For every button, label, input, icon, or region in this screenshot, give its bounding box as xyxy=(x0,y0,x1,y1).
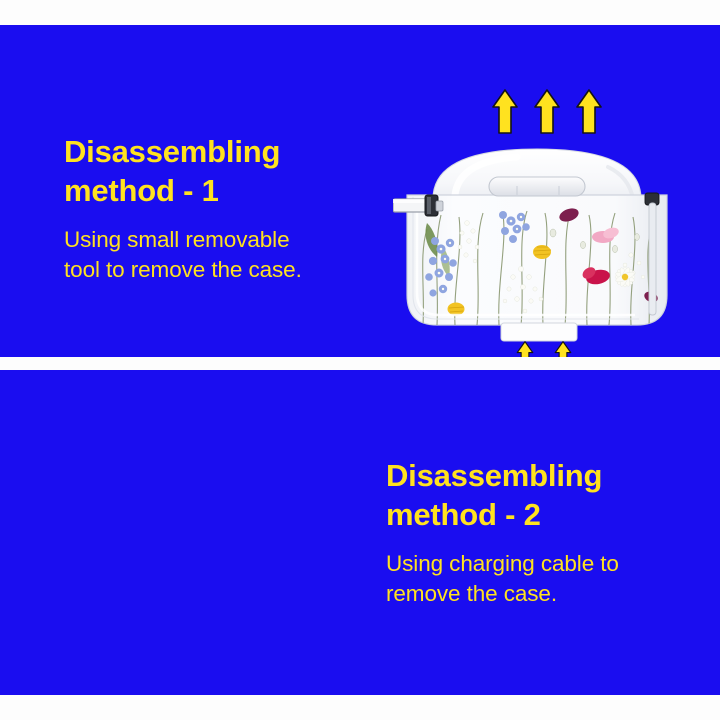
panel-method-1: Disassembling method - 1 Using small rem… xyxy=(0,25,720,357)
case-hinge-bar xyxy=(489,177,585,196)
case-bottom-tab xyxy=(501,323,577,341)
up-arrow-icon xyxy=(534,89,560,134)
panel-method-2: Disassembling method - 2 Using charging … xyxy=(0,370,720,695)
buttercup-flower xyxy=(448,303,465,316)
up-arrow-icon xyxy=(492,89,518,134)
method-2-text-block: Disassembling method - 2 Using charging … xyxy=(386,456,696,609)
method-1-bottom-arrows xyxy=(515,341,573,357)
method-1-text-block: Disassembling method - 1 Using small rem… xyxy=(64,132,364,285)
up-arrow-icon xyxy=(515,341,535,357)
up-arrow-icon xyxy=(576,89,602,134)
method-1-top-arrows xyxy=(492,89,602,134)
panel-divider xyxy=(0,357,720,370)
case-body xyxy=(407,195,667,325)
method-1-subtext: Using small removable tool to remove the… xyxy=(64,225,364,285)
product-image-method-1 xyxy=(393,137,681,357)
up-arrow-icon xyxy=(553,341,573,357)
method-2-subtext: Using charging cable to remove the case. xyxy=(386,549,696,609)
method-2-heading: Disassembling method - 2 xyxy=(386,456,696,535)
infographic-sheet: Disassembling method - 1 Using small rem… xyxy=(0,0,720,720)
method-1-heading: Disassembling method - 1 xyxy=(64,132,364,211)
buttercup-flower xyxy=(533,245,551,259)
